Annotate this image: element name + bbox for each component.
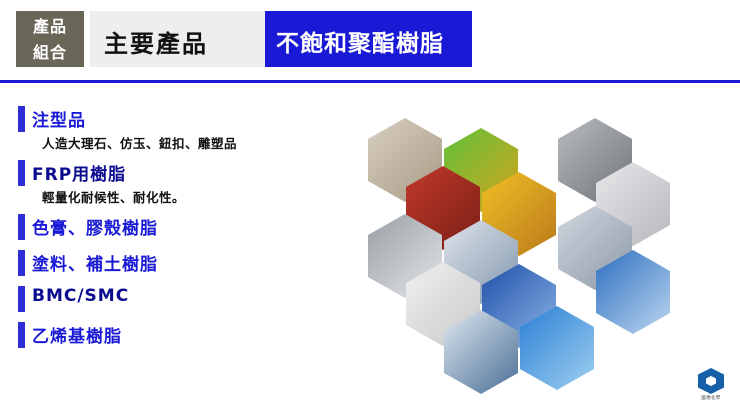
header-highlight-label: 不飽和聚酯樹脂 xyxy=(276,24,444,58)
bullet-bar-icon xyxy=(18,106,25,132)
bullet-bar-icon xyxy=(18,250,25,276)
list-item-subtitle: 輕量化耐候性、耐化性。 xyxy=(42,187,185,206)
bullet-bar-icon xyxy=(18,322,25,348)
header-badge-line1: 產品 xyxy=(16,14,84,40)
list-item[interactable]: 乙烯基樹脂 xyxy=(18,322,318,352)
list-item-title: 塗料、補土樹脂 xyxy=(32,250,158,275)
list-item[interactable]: 色膏、膠殼樹脂 xyxy=(18,214,318,244)
header-badge: 產品 組合 xyxy=(16,11,84,67)
header-divider xyxy=(0,80,740,83)
header-badge-line2: 組合 xyxy=(16,40,84,66)
bullet-bar-icon xyxy=(18,214,25,240)
list-item-title: BMC/SMC xyxy=(32,286,129,306)
bullet-bar-icon xyxy=(18,286,25,312)
product-image-collage xyxy=(330,110,725,385)
company-logo-caption: 國喬化學 xyxy=(694,395,728,401)
list-item[interactable]: 注型品 人造大理石、仿玉、鈕扣、雕塑品 xyxy=(18,106,318,154)
company-logo: 國喬化學 xyxy=(694,368,728,402)
list-item-title: FRP用樹脂 xyxy=(32,160,126,185)
list-item[interactable]: 塗料、補土樹脂 xyxy=(18,250,318,280)
list-item-title: 色膏、膠殼樹脂 xyxy=(32,214,158,239)
bullet-bar-icon xyxy=(18,160,25,186)
list-item-title: 注型品 xyxy=(32,106,86,131)
list-item[interactable]: FRP用樹脂 輕量化耐候性、耐化性。 xyxy=(18,160,318,208)
header-main-label: 主要產品 xyxy=(104,24,208,59)
hexagon-logo-icon xyxy=(698,368,724,394)
product-list: 注型品 人造大理石、仿玉、鈕扣、雕塑品 FRP用樹脂 輕量化耐候性、耐化性。 色… xyxy=(18,106,318,358)
slide-header: 產品 組合 主要產品 不飽和聚酯樹脂 xyxy=(0,0,740,82)
list-item[interactable]: BMC/SMC xyxy=(18,286,318,316)
list-item-title: 乙烯基樹脂 xyxy=(32,322,122,347)
list-item-subtitle: 人造大理石、仿玉、鈕扣、雕塑品 xyxy=(42,133,237,152)
